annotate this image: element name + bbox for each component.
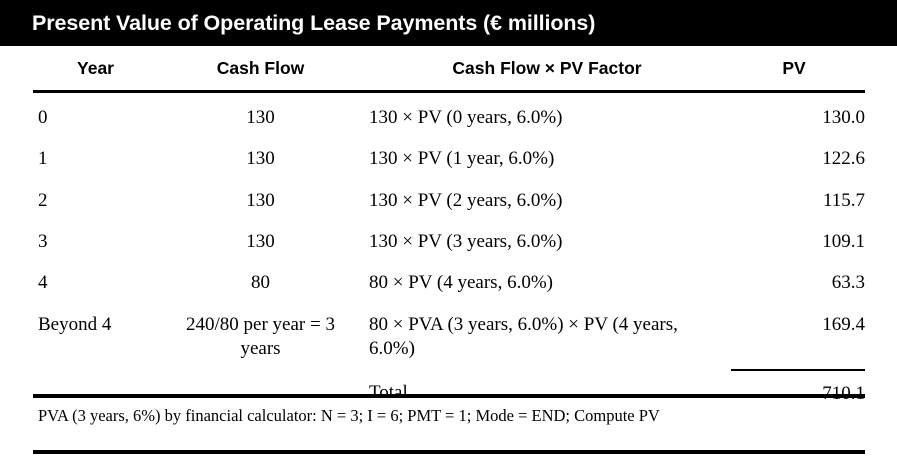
cell-year: 2 [33,180,158,221]
cell-formula: 130 × PV (2 years, 6.0%) [363,180,731,221]
cell-cash-flow: 130 [158,180,363,221]
table-body: 0 130 130 × PV (0 years, 6.0%) 130.0 1 1… [33,92,865,415]
cell-year: 1 [33,139,158,180]
cell-formula: 130 × PV (3 years, 6.0%) [363,221,731,262]
table-row: 3 130 130 × PV (3 years, 6.0%) 109.1 [33,221,865,262]
column-header-pv: PV [731,46,865,92]
cell-pv: 130.0 [731,92,865,139]
table-footnote: PVA (3 years, 6%) by financial calculato… [38,406,868,426]
cell-formula: 130 × PV (1 year, 6.0%) [363,139,731,180]
cell-pv: 169.4 [731,304,865,370]
cell-cash-flow: 80 [158,263,363,304]
cell-formula: 80 × PV (4 years, 6.0%) [363,263,731,304]
cell-year: 3 [33,221,158,262]
column-header-cash-flow: Cash Flow [158,46,363,92]
table-bottom-rule [33,394,865,398]
table-header: Year Cash Flow Cash Flow × PV Factor PV [33,46,865,92]
table-row: 2 130 130 × PV (2 years, 6.0%) 115.7 [33,180,865,221]
cell-cash-flow: 130 [158,221,363,262]
cell-year: 4 [33,263,158,304]
column-header-year: Year [33,46,158,92]
cell-cash-flow: 240/80 per year = 3 years [158,304,363,370]
cell-year: 0 [33,92,158,139]
cell-formula: 130 × PV (0 years, 6.0%) [363,92,731,139]
table-row: 4 80 80 × PV (4 years, 6.0%) 63.3 [33,263,865,304]
cell-year: Beyond 4 [33,304,158,370]
pv-table-wrapper: Year Cash Flow Cash Flow × PV Factor PV … [33,46,865,415]
exhibit-title: Present Value of Operating Lease Payment… [0,11,595,36]
exhibit-container: Present Value of Operating Lease Payment… [0,0,897,460]
cell-cash-flow: 130 [158,92,363,139]
table-row: 1 130 130 × PV (1 year, 6.0%) 122.6 [33,139,865,180]
cell-formula: 80 × PVA (3 years, 6.0%) × PV (4 years, … [363,304,731,370]
table-row: 0 130 130 × PV (0 years, 6.0%) 130.0 [33,92,865,139]
present-value-table: Year Cash Flow Cash Flow × PV Factor PV … [33,46,865,415]
cell-pv: 122.6 [731,139,865,180]
exhibit-title-bar: Present Value of Operating Lease Payment… [0,0,897,46]
table-header-row: Year Cash Flow Cash Flow × PV Factor PV [33,46,865,92]
cell-pv: 115.7 [731,180,865,221]
exhibit-bottom-rule [33,450,865,454]
cell-cash-flow: 130 [158,139,363,180]
table-row: Beyond 4 240/80 per year = 3 years 80 × … [33,304,865,370]
column-header-cash-flow-times-pv-factor: Cash Flow × PV Factor [363,46,731,92]
cell-pv: 109.1 [731,221,865,262]
cell-pv: 63.3 [731,263,865,304]
